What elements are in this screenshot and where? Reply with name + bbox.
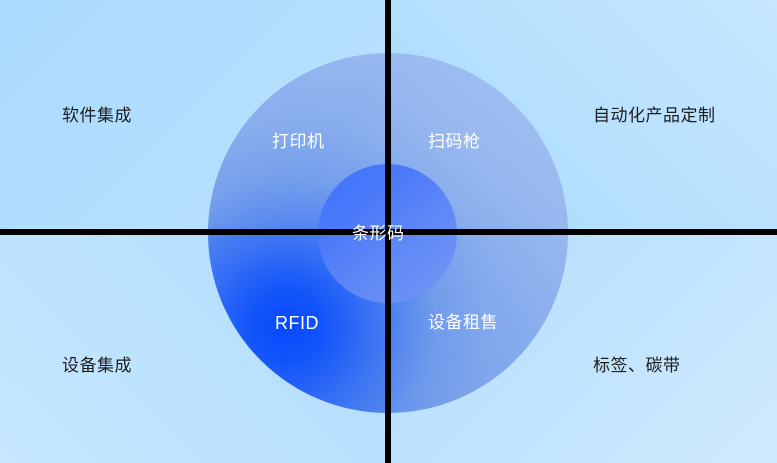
inner-label-scanner: 扫码枪 bbox=[428, 133, 481, 150]
outer-label-software-integration: 软件集成 bbox=[62, 107, 132, 124]
outer-label-equipment-integration: 设备集成 bbox=[62, 357, 132, 374]
inner-label-printer: 打印机 bbox=[272, 133, 325, 150]
inner-label-rfid: RFID bbox=[275, 314, 319, 332]
inner-label-equipment-rental: 设备租售 bbox=[428, 314, 498, 331]
outer-label-labels-ribbons: 标签、碳带 bbox=[593, 357, 681, 374]
diagram-canvas: 软件集成 自动化产品定制 设备集成 标签、碳带 打印机 扫码枪 RFID 设备租… bbox=[0, 0, 777, 463]
center-label-barcode: 条形码 bbox=[352, 225, 405, 242]
outer-label-automation-customization: 自动化产品定制 bbox=[593, 107, 716, 124]
